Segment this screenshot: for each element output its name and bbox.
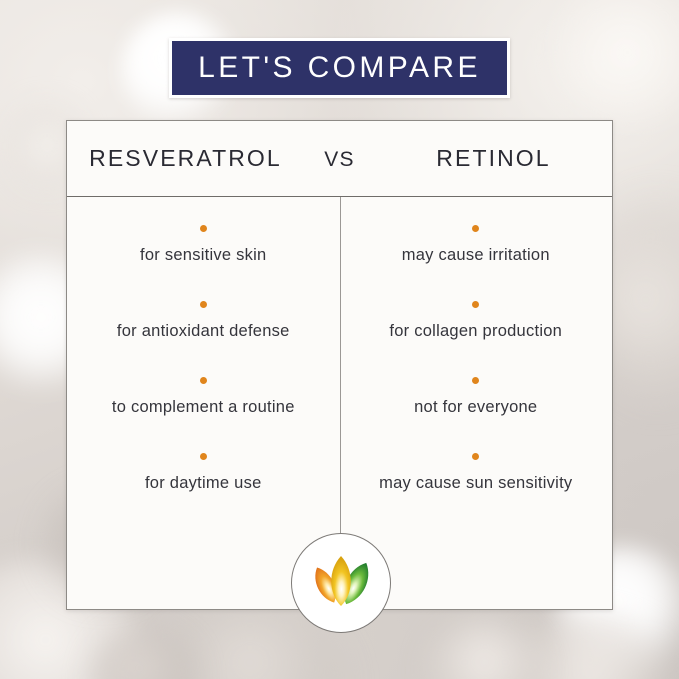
brand-logo: [291, 533, 391, 633]
list-item-label: to complement a routine: [112, 398, 295, 417]
list-item: may cause irritation: [340, 206, 613, 282]
list-item-label: for sensitive skin: [140, 246, 266, 265]
bullet-dot-icon: [200, 453, 207, 460]
page-title: LET'S COMPARE: [198, 51, 481, 85]
list-item: to complement a routine: [67, 358, 340, 434]
list-item: for sensitive skin: [67, 206, 340, 282]
versus-label: VS: [304, 148, 376, 172]
bullet-dot-icon: [472, 225, 479, 232]
list-item-label: not for everyone: [414, 398, 537, 417]
bullet-dot-icon: [200, 225, 207, 232]
list-item-label: for collagen production: [389, 322, 562, 341]
list-item: for collagen production: [340, 282, 613, 358]
three-leaf-logo-icon: [302, 544, 380, 622]
column-header-left: RESVERATROL: [68, 145, 304, 172]
list-item-label: may cause sun sensitivity: [379, 474, 572, 493]
list-item: not for everyone: [340, 358, 613, 434]
column-header-right: RETINOL: [376, 145, 612, 172]
bullet-dot-icon: [472, 301, 479, 308]
list-item-label: for antioxidant defense: [117, 322, 290, 341]
bullet-dot-icon: [200, 301, 207, 308]
comparison-header-row: RESVERATROL VS RETINOL: [67, 121, 612, 197]
list-item: for daytime use: [67, 434, 340, 510]
bullet-dot-icon: [472, 453, 479, 460]
list-item: for antioxidant defense: [67, 282, 340, 358]
bullet-dot-icon: [472, 377, 479, 384]
column-resveratrol: for sensitive skin for antioxidant defen…: [67, 197, 340, 609]
bullet-dot-icon: [200, 377, 207, 384]
title-banner: LET'S COMPARE: [169, 38, 510, 98]
poster-canvas: LET'S COMPARE RESVERATROL VS RETINOL for…: [0, 0, 679, 679]
list-item-label: for daytime use: [145, 474, 262, 493]
list-item: may cause sun sensitivity: [340, 434, 613, 510]
column-retinol: may cause irritation for collagen produc…: [340, 197, 613, 609]
list-item-label: may cause irritation: [402, 246, 550, 265]
